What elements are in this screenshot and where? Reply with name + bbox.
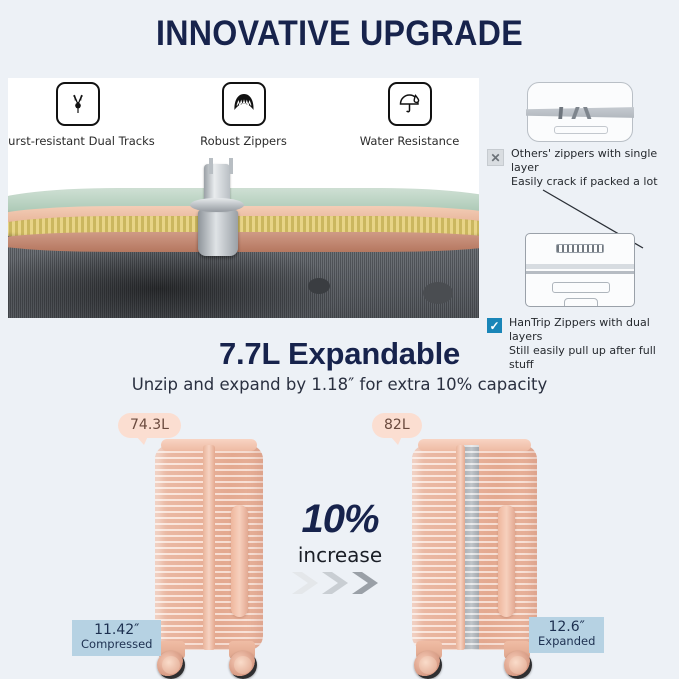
- feature-label: Burst-resistant Dual Tracks: [8, 134, 155, 148]
- comparison-row-negative: ✕ Others' zippers with single layer Easi…: [487, 147, 673, 189]
- zipper-photo-panel: Burst-resistant Dual Tracks Robust Zippe…: [8, 78, 479, 318]
- case-outline-cracked: [527, 82, 633, 142]
- increase-percent: 10%: [268, 497, 412, 542]
- feature-label: Water Resistance: [360, 134, 460, 148]
- check-icon: ✓: [487, 318, 502, 333]
- case-outline-dual-layer: [525, 233, 635, 307]
- negative-line-1: Others' zippers with single layer: [511, 147, 673, 175]
- suitcase-side-handle: [498, 505, 515, 617]
- cross-icon: ✕: [487, 149, 504, 166]
- feature-item-robust-zippers: Robust Zippers: [178, 82, 310, 148]
- increase-label: increase: [268, 543, 412, 567]
- suitcase-shell: [155, 445, 263, 650]
- dimension-tag-expanded: 12.6″ Expanded: [529, 617, 604, 653]
- zipper-closeup-photo: [8, 158, 479, 318]
- shark-jaw-icon: [222, 82, 266, 126]
- suitcase-expanded: [412, 445, 537, 650]
- mesh-hole: [423, 282, 453, 304]
- dimension-label: Expanded: [538, 635, 595, 648]
- chevron-arrows-icon: [290, 568, 400, 598]
- handle-slot: [554, 126, 608, 134]
- zipper-plate: [556, 244, 604, 253]
- wheel-hub: [419, 656, 437, 674]
- zipper-slider: [198, 210, 238, 256]
- handle-slot: [552, 282, 610, 293]
- dimension-tag-compressed: 11.42″ Compressed: [72, 620, 161, 656]
- zipper-icon: [56, 82, 100, 126]
- expansion-gusset: [464, 445, 479, 650]
- zipper-rail-lower: [526, 271, 634, 274]
- feature-icon-row: Burst-resistant Dual Tracks Robust Zippe…: [8, 82, 479, 158]
- wheel-hub: [234, 656, 252, 674]
- zipper-rail-upper: [526, 264, 634, 269]
- suitcase-spine: [456, 445, 465, 650]
- suitcase-wheel: [414, 651, 442, 679]
- zipper-track-rose: [8, 232, 479, 252]
- suitcase-side-handle: [231, 505, 248, 617]
- page-title: INNOVATIVE UPGRADE: [27, 14, 652, 54]
- feature-label: Robust Zippers: [200, 134, 287, 148]
- mesh-hole: [308, 278, 330, 294]
- umbrella-water-icon: [388, 82, 432, 126]
- single-layer-zipper-diagram: [487, 82, 673, 142]
- suitcase-wheel: [229, 651, 257, 679]
- dimension-value: 12.6″: [538, 620, 595, 635]
- wheel-hub: [509, 656, 527, 674]
- comparison-negative-text: Others' zippers with single layer Easily…: [511, 147, 673, 189]
- zipper-comparison-panel: ✕ Others' zippers with single layer Easi…: [487, 78, 673, 318]
- case-foot: [564, 298, 598, 307]
- capacity-badge-compressed: 74.3L: [118, 413, 181, 438]
- suitcase-spine: [203, 445, 215, 650]
- expandable-subtitle: Unzip and expand by 1.18″ for extra 10% …: [0, 375, 679, 394]
- wheel-hub: [162, 656, 180, 674]
- infographic-root: INNOVATIVE UPGRADE Burst-resistant Dual …: [0, 0, 679, 679]
- feature-item-dual-tracks: Burst-resistant Dual Tracks: [12, 82, 144, 148]
- suitcase-wheel: [504, 651, 532, 679]
- feature-item-water-resistance: Water Resistance: [344, 82, 476, 148]
- dual-layer-zipper-diagram: [487, 233, 673, 307]
- crack-marks: [544, 107, 618, 119]
- dimension-value: 11.42″: [81, 623, 152, 638]
- suitcase-shell: [412, 445, 537, 650]
- dimension-label: Compressed: [81, 638, 152, 651]
- zipper-pull-tab: [204, 164, 230, 210]
- expandable-title: 7.7L Expandable: [0, 336, 679, 372]
- suitcase-compressed: [155, 445, 263, 650]
- capacity-badge-expanded: 82L: [372, 413, 422, 438]
